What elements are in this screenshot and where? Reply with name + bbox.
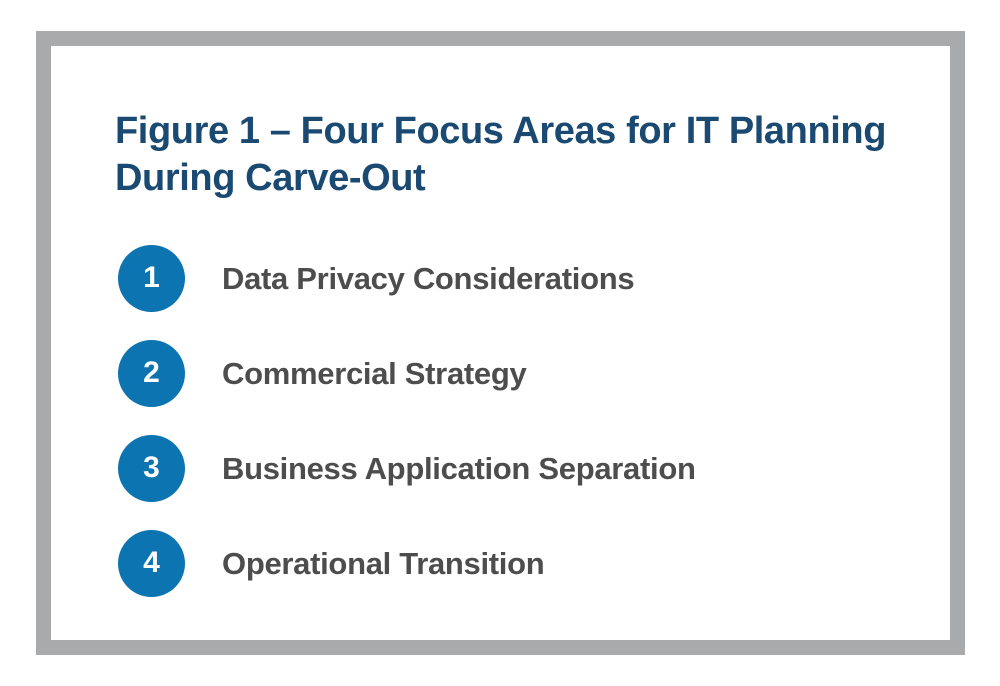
number-badge-1-icon: 1 bbox=[118, 245, 185, 312]
figure-frame: Figure 1 – Four Focus Areas for IT Plann… bbox=[36, 31, 965, 655]
focus-area-label-4: Operational Transition bbox=[222, 546, 938, 582]
focus-area-label-2: Commercial Strategy bbox=[222, 356, 938, 392]
focus-area-item-4: 4 Operational Transition bbox=[118, 530, 938, 597]
focus-area-item-3: 3 Business Application Separation bbox=[118, 435, 938, 502]
focus-area-item-2: 2 Commercial Strategy bbox=[118, 340, 938, 407]
number-badge-4-icon: 4 bbox=[118, 530, 185, 597]
figure-canvas: Figure 1 – Four Focus Areas for IT Plann… bbox=[51, 46, 950, 640]
focus-area-label-3: Business Application Separation bbox=[222, 451, 938, 487]
focus-area-item-1: 1 Data Privacy Considerations bbox=[118, 245, 938, 312]
focus-area-label-1: Data Privacy Considerations bbox=[222, 261, 938, 297]
number-badge-3-icon: 3 bbox=[118, 435, 185, 502]
number-badge-2-icon: 2 bbox=[118, 340, 185, 407]
figure-root: Figure 1 – Four Focus Areas for IT Plann… bbox=[0, 0, 1000, 686]
figure-title: Figure 1 – Four Focus Areas for IT Plann… bbox=[115, 108, 915, 202]
